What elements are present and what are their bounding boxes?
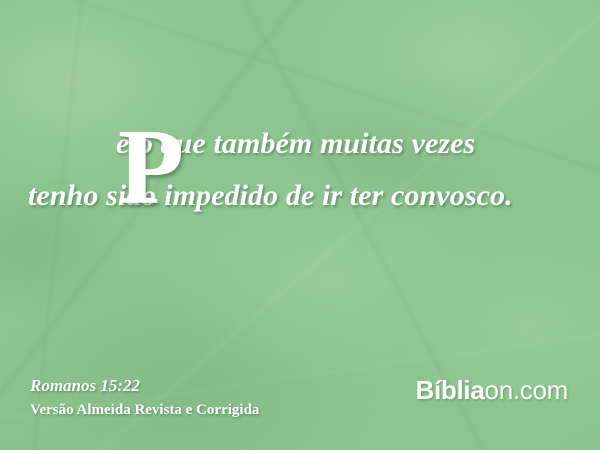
logo-text-light: on.com bbox=[485, 375, 568, 405]
verse-attribution: Romanos 15:22 Versão Almeida Revista e C… bbox=[30, 374, 259, 420]
bible-verse-card: P elo que também muitas vezes tenho sido… bbox=[0, 0, 600, 450]
bible-version-label: Versão Almeida Revista e Corrigida bbox=[30, 401, 259, 420]
verse-quote: P elo que também muitas vezes tenho sido… bbox=[28, 118, 576, 222]
card-footer: Romanos 15:22 Versão Almeida Revista e C… bbox=[0, 374, 600, 438]
verse-dropcap: P bbox=[30, 114, 184, 222]
logo-text-strong: Bíblia bbox=[416, 375, 485, 405]
bibliaon-logo[interactable]: Bíbliaon.com bbox=[416, 374, 570, 405]
verse-reference: Romanos 15:22 bbox=[30, 376, 259, 396]
verse-line-1: P elo que também muitas vezes bbox=[28, 118, 576, 170]
